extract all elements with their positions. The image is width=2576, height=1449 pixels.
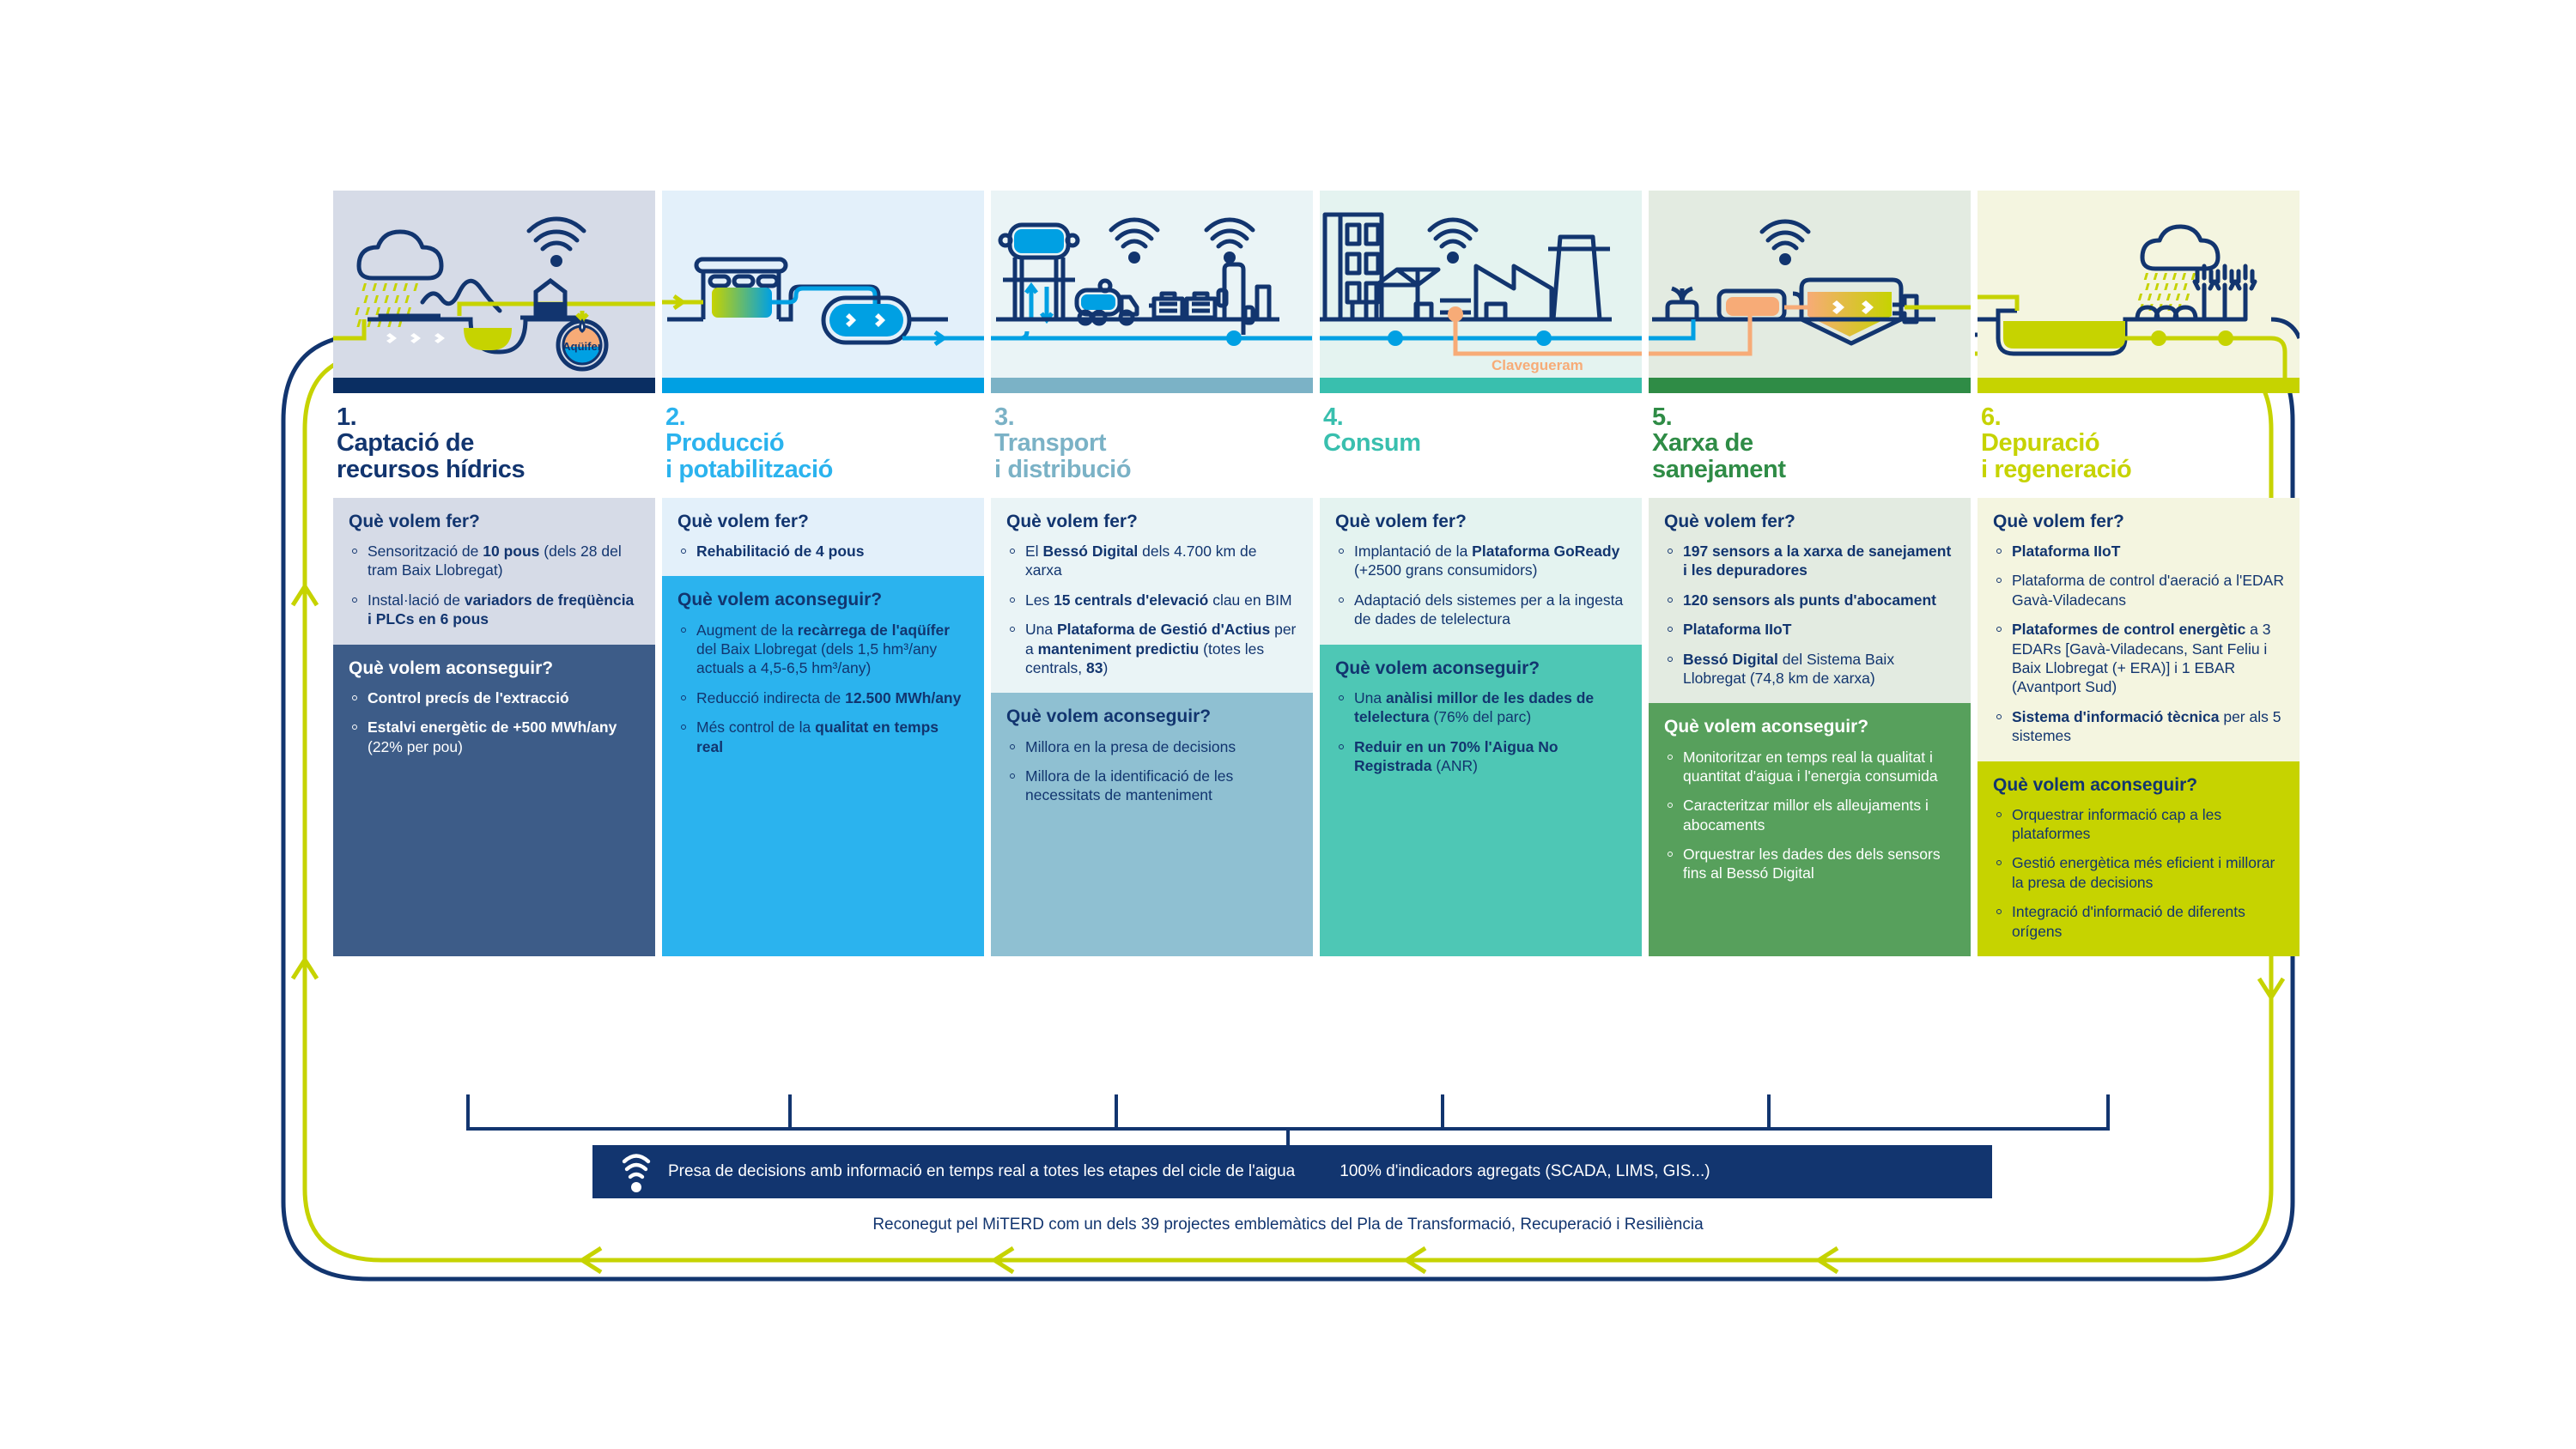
- miterd-credit: Reconegut pel MiTERD com un dels 39 proj…: [0, 1216, 2576, 1234]
- bar-text-secondary: 100% d'indicadors agregats (SCADA, LIMS,…: [1340, 1162, 1710, 1181]
- infographic-canvas: Aqüifer 1. Captació de recursos hídrics …: [0, 0, 2576, 1449]
- wifi-icon: [617, 1150, 656, 1195]
- realtime-decision-bar: Presa de decisions amb informació en tem…: [592, 1145, 1992, 1198]
- bar-text-primary: Presa de decisions amb informació en tem…: [668, 1162, 1295, 1181]
